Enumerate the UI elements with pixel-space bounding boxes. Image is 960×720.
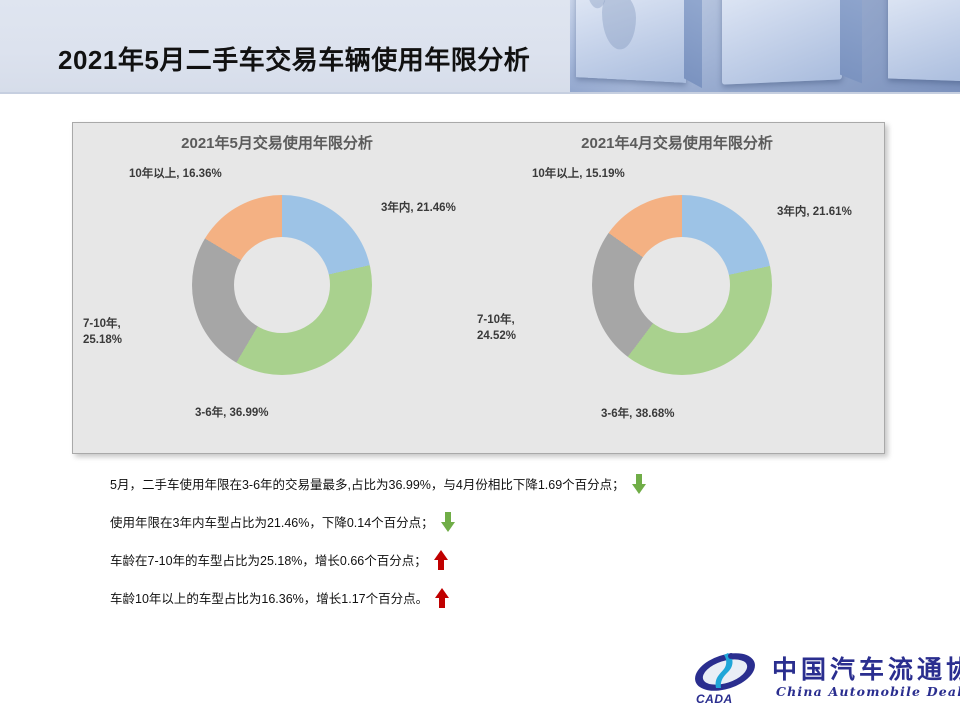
slice-label-over10: 10年以上, 16.36% [129,167,222,183]
bullet-text: 使用年限在3年内车型占比为21.46%，下降0.14个百分点； [110,512,434,531]
up-arrow-red-icon [434,587,450,609]
bullet-row: 车龄在7-10年的车型占比为25.18%，增长0.66个百分点； [110,540,870,578]
bullet-text: 车龄在7-10年的车型占比为25.18%，增长0.66个百分点； [110,550,427,569]
slice-label-7to10-line1: 7-10年, [83,318,121,330]
logo-text-cn: 中国汽车流通协会 [772,650,960,686]
cada-logo: 中国汽车流通协会 China Automobile Dealers Associ… [692,648,954,710]
slice-label-7to10-line2: 24.52% [477,330,516,342]
donut-hole [634,237,730,333]
slice-label-7to10-line2: 25.18% [83,334,122,346]
slice-label-7to10: 7-10年,25.18% [83,317,122,348]
down-arrow-green-icon [440,511,456,533]
bullet-text: 车龄10年以上的车型占比为16.36%，增长1.17个百分点。 [110,588,428,607]
chart-title-april: 2021年4月交易使用年限分析 [477,132,877,153]
chart-may: 2021年5月交易使用年限分析 10年以上, 16.36% 3年内, 21.46… [77,123,477,453]
blue-cubes-image [570,0,960,92]
slice-label-3to6: 3-6年, 36.99% [195,406,269,422]
slice-label-7to10-line1: 7-10年, [477,314,515,326]
bullet-row: 使用年限在3年内车型占比为21.46%，下降0.14个百分点； [110,502,870,540]
bullet-row: 5月，二手车使用年限在3-6年的交易量最多,占比为36.99%，与4月份相比下降… [110,464,870,502]
header-divider [0,92,960,94]
logo-abbr: CADA [696,692,733,706]
summary-bullets: 5月，二手车使用年限在3-6年的交易量最多,占比为36.99%，与4月份相比下降… [110,464,870,616]
down-arrow-green-icon [631,473,647,495]
bullet-text: 5月，二手车使用年限在3-6年的交易量最多,占比为36.99%，与4月份相比下降… [110,474,625,493]
slice-label-over10: 10年以上, 15.19% [532,167,625,183]
slice-label-within3: 3年内, 21.46% [381,201,456,217]
donut-chart-april [592,195,772,375]
slice-label-within3: 3年内, 21.61% [777,205,852,221]
slice-label-3to6: 3-6年, 38.68% [601,407,675,423]
slice-label-7to10: 7-10年,24.52% [477,313,516,344]
page-title: 2021年5月二手车交易车辆使用年限分析 [58,40,530,77]
donut-chart-may [192,195,372,375]
up-arrow-red-icon [433,549,449,571]
chart-april: 2021年4月交易使用年限分析 10年以上, 15.19% 3年内, 21.61… [477,123,877,453]
logo-text-en: China Automobile Dealers Association [776,684,960,699]
donut-hole [234,237,330,333]
bullet-row: 车龄10年以上的车型占比为16.36%，增长1.17个百分点。 [110,578,870,616]
chart-title-may: 2021年5月交易使用年限分析 [77,132,477,153]
slide-header: 2021年5月二手车交易车辆使用年限分析 [0,0,960,92]
charts-panel: 2021年5月交易使用年限分析 10年以上, 16.36% 3年内, 21.46… [72,122,885,454]
